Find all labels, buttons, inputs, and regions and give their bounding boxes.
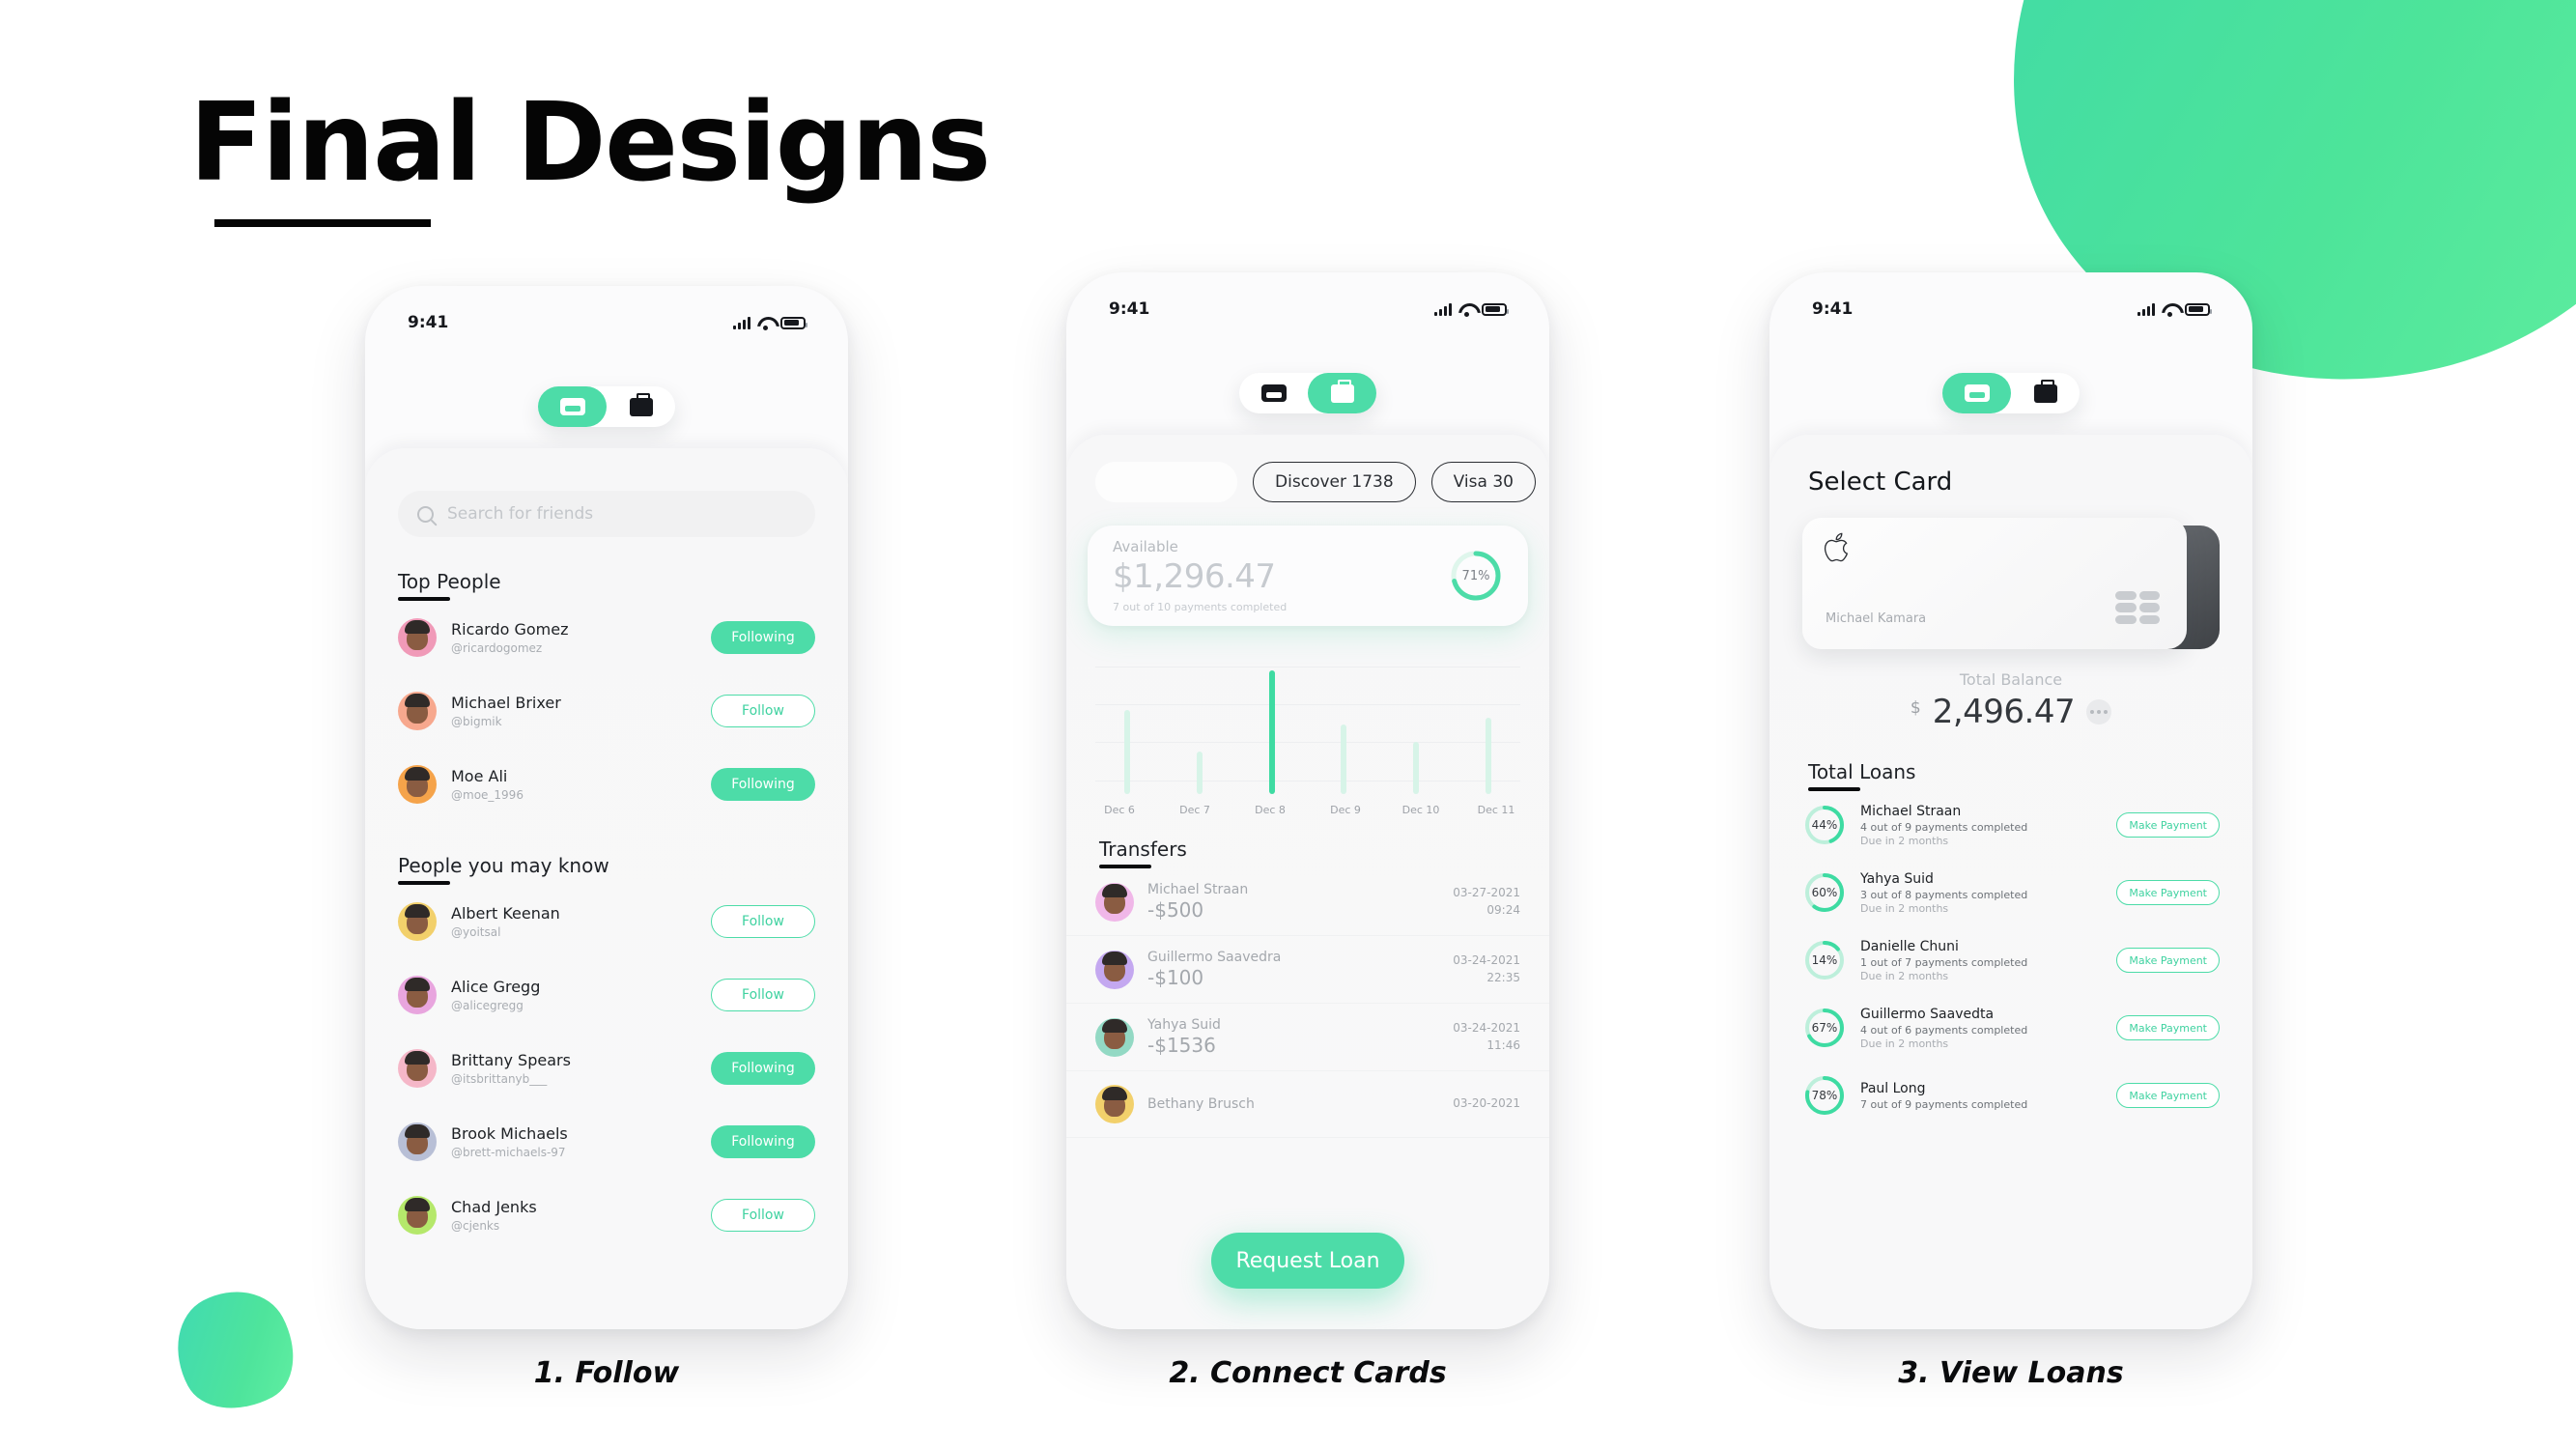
avatar [398, 765, 437, 804]
person-info: Michael Brixer@bigmik [451, 695, 696, 728]
transfer-name: Guillermo Saavedra [1147, 950, 1439, 965]
avatar [1095, 1085, 1134, 1123]
person-info: Albert Keenan@yoitsal [451, 905, 696, 939]
mode-toggle[interactable] [1942, 373, 2080, 413]
person-info: Alice Gregg@alicegregg [451, 979, 696, 1012]
make-payment-button[interactable]: Make Payment [2116, 1015, 2220, 1040]
screen-content-cards: Chase 0926Discover 1738Visa 30 Available… [1066, 435, 1549, 1329]
loan-row[interactable]: 44%Michael Straan4 out of 9 payments com… [1769, 791, 2252, 859]
avatar [398, 976, 437, 1014]
loan-progress-ring: 44% [1802, 803, 1847, 847]
person-info: Brittany Spears@itsbrittanyb___ [451, 1052, 696, 1086]
chart-x-tick: Dec 10 [1397, 804, 1445, 816]
transfers-list: Michael Straan-$50003-27-202109:24Guille… [1066, 868, 1549, 1138]
cellular-signal-icon [1434, 303, 1452, 316]
follow-toggle-button[interactable]: Follow [711, 905, 815, 938]
loan-row[interactable]: 67%Guillermo Saavedta4 out of 6 payments… [1769, 994, 2252, 1062]
transfer-date: 03-24-2021 [1453, 1020, 1520, 1037]
follow-toggle-button[interactable]: Following [711, 1125, 815, 1158]
toggle-option-briefcase[interactable] [607, 386, 675, 427]
make-payment-button[interactable]: Make Payment [2116, 812, 2220, 838]
caption-step-2: 2. Connect Cards [1066, 1356, 1549, 1390]
caption-step-1: 1. Follow [365, 1356, 848, 1390]
avatar [398, 618, 437, 657]
person-name: Albert Keenan [451, 904, 560, 923]
loan-progress-ring: 78% [1802, 1073, 1847, 1118]
chart-x-tick: Dec 7 [1171, 804, 1219, 816]
avatar [398, 1049, 437, 1088]
loan-progress-value: 44% [1802, 803, 1847, 847]
chart-bar-slot [1464, 659, 1513, 794]
select-card-title: Select Card [1808, 468, 2252, 497]
person-handle: @bigmik [451, 715, 696, 728]
loan-info: Guillermo Saavedta4 out of 6 payments co… [1860, 1007, 2103, 1050]
status-indicators [733, 317, 806, 329]
loan-payments-text: 4 out of 6 payments completed [1860, 1024, 2103, 1037]
card-chip[interactable]: Discover 1738 [1253, 462, 1416, 502]
loan-row[interactable]: 78%Paul Long7 out of 9 payments complete… [1769, 1062, 2252, 1129]
chart-bar [1413, 742, 1419, 794]
avatar [1095, 951, 1134, 989]
transfer-time: 22:35 [1453, 970, 1520, 986]
total-loans-heading: Total Loans [1808, 760, 1915, 783]
avatar [1095, 883, 1134, 922]
briefcase-icon [630, 398, 653, 416]
battery-icon [780, 317, 806, 329]
loan-payments-text: 7 out of 9 payments completed [1860, 1098, 2103, 1111]
person-row[interactable]: Alice Gregg@alicegreggFollow [365, 958, 848, 1032]
credit-card-icon [1965, 384, 1990, 402]
person-handle: @ricardogomez [451, 641, 696, 655]
person-name: Alice Gregg [451, 978, 540, 996]
transfer-amount: -$100 [1147, 966, 1439, 989]
toggle-option-card[interactable] [1942, 373, 2011, 413]
person-name: Chad Jenks [451, 1198, 537, 1216]
phone-mockup-view-loans: 9:41 Select Card Michael Kamara [1769, 272, 2252, 1329]
transfers-bar-chart [1095, 659, 1520, 794]
credit-card-icon [1261, 384, 1287, 402]
transfer-datetime: 03-27-202109:24 [1453, 885, 1520, 919]
cellular-signal-icon [2137, 303, 2155, 316]
loan-info: Yahya Suid3 out of 8 payments completedD… [1860, 871, 2103, 915]
transfer-date: 03-27-2021 [1453, 885, 1520, 901]
person-row[interactable]: Albert Keenan@yoitsalFollow [365, 885, 848, 958]
total-balance-row: $ 2,496.47 [1769, 693, 2252, 731]
chart-bar [1124, 710, 1130, 794]
battery-icon [2185, 303, 2210, 316]
transfer-name: Michael Straan [1147, 882, 1439, 897]
chart-bar-slot [1248, 659, 1296, 794]
loan-borrower-name: Danielle Chuni [1860, 939, 2103, 954]
person-info: Brook Michaels@brett-michaels-97 [451, 1125, 696, 1159]
section-heading: People you may know [398, 854, 609, 877]
person-row[interactable]: Chad Jenks@cjenksFollow [365, 1179, 848, 1252]
loan-info: Michael Straan4 out of 9 payments comple… [1860, 804, 2103, 847]
person-name: Moe Ali [451, 767, 507, 785]
status-indicators [2137, 303, 2210, 316]
transfer-info: Guillermo Saavedra-$100 [1147, 950, 1439, 989]
make-payment-button[interactable]: Make Payment [2116, 880, 2220, 905]
phone-mockup-follow: 9:41 Search for friends Top PeopleRicard… [365, 286, 848, 1329]
make-payment-button[interactable]: Make Payment [2116, 1083, 2220, 1108]
person-info: Ricardo Gomez@ricardogomez [451, 621, 696, 655]
person-row[interactable]: Michael Brixer@bigmikFollow [365, 674, 848, 748]
loans-list: 44%Michael Straan4 out of 9 payments com… [1769, 791, 2252, 1129]
avatar [1095, 1018, 1134, 1057]
person-name: Brittany Spears [451, 1051, 571, 1069]
search-placeholder: Search for friends [447, 504, 593, 524]
person-row[interactable]: Ricardo Gomez@ricardogomezFollowing [365, 601, 848, 674]
status-time: 9:41 [1812, 299, 1853, 319]
person-handle: @moe_1996 [451, 788, 696, 802]
transfer-row[interactable]: Michael Straan-$50003-27-202109:24 [1066, 868, 1549, 936]
chart-x-axis-labels: Dec 6Dec 7Dec 8Dec 9Dec 10Dec 11 [1095, 804, 1520, 816]
loan-info: Paul Long7 out of 9 payments completed [1860, 1081, 2103, 1111]
available-amount: $1,296.47 [1113, 557, 1287, 596]
toggle-option-card[interactable] [538, 386, 607, 427]
mode-toggle[interactable] [538, 386, 675, 427]
chart-bar [1341, 724, 1346, 794]
person-name: Ricardo Gomez [451, 620, 569, 639]
transfer-date: 03-20-2021 [1453, 1095, 1520, 1112]
transfer-datetime: 03-20-2021 [1453, 1095, 1520, 1112]
status-time: 9:41 [1109, 299, 1149, 319]
chart-bar-slot [1319, 659, 1368, 794]
people-sections: Top PeopleRicardo Gomez@ricardogomezFoll… [365, 537, 848, 1252]
chart-x-tick: Dec 11 [1472, 804, 1520, 816]
status-bar: 9:41 [365, 286, 848, 342]
status-time: 9:41 [408, 313, 448, 332]
briefcase-icon [1331, 384, 1354, 403]
follow-toggle-button[interactable]: Follow [711, 979, 815, 1011]
person-info: Chad Jenks@cjenks [451, 1199, 696, 1233]
card-chip-row[interactable]: Chase 0926Discover 1738Visa 30 [1066, 460, 1549, 504]
person-handle: @cjenks [451, 1219, 696, 1233]
person-row[interactable]: Brittany Spears@itsbrittanyb___Following [365, 1032, 848, 1105]
request-loan-button[interactable]: Request Loan [1211, 1233, 1404, 1289]
currency-symbol: $ [1911, 698, 1921, 718]
avatar [398, 692, 437, 730]
avatar [398, 1196, 437, 1235]
apple-logo-icon [1824, 531, 1853, 564]
loan-borrower-name: Paul Long [1860, 1081, 2103, 1096]
loan-payments-text: 4 out of 9 payments completed [1860, 821, 2103, 834]
follow-toggle-button[interactable]: Following [711, 621, 815, 654]
total-balance-amount: 2,496.47 [1933, 693, 2075, 731]
loan-due-text: Due in 2 months [1860, 902, 2103, 915]
loan-due-text: Due in 2 months [1860, 835, 2103, 847]
person-row[interactable]: Moe Ali@moe_1996Following [365, 748, 848, 821]
search-input[interactable]: Search for friends [398, 491, 815, 537]
credit-card-icon [560, 398, 585, 415]
follow-toggle-button[interactable]: Follow [711, 695, 815, 727]
transfer-name: Bethany Brusch [1147, 1096, 1439, 1112]
chart-bar-slot [1175, 659, 1224, 794]
person-handle: @itsbrittanyb___ [451, 1072, 696, 1086]
balance-text-block: Available $1,296.47 7 out of 10 payments… [1113, 538, 1287, 613]
person-row[interactable]: Brook Michaels@brett-michaels-97Followin… [365, 1105, 848, 1179]
chart-bar-slot [1103, 659, 1151, 794]
loan-due-text: Due in 2 months [1860, 970, 2103, 982]
follow-toggle-button[interactable]: Following [711, 768, 815, 801]
status-indicators [1434, 303, 1507, 316]
toggle-option-briefcase[interactable] [2011, 373, 2080, 413]
transfers-heading: Transfers [1099, 838, 1187, 861]
section-heading: Top People [398, 570, 501, 593]
chart-bar [1486, 718, 1491, 794]
ellipsis-icon[interactable] [2086, 699, 2111, 724]
loan-row[interactable]: 14%Danielle Chuni1 out of 7 payments com… [1769, 926, 2252, 994]
card-chip-icon [2115, 591, 2160, 624]
screen-content-loans: Select Card Michael Kamara Total Balance… [1769, 435, 2252, 1329]
chart-bar [1269, 670, 1275, 794]
loan-progress-ring: 67% [1802, 1006, 1847, 1050]
decorative-blob-bottom-left [156, 1271, 313, 1430]
toggle-option-briefcase[interactable] [1308, 373, 1376, 413]
status-bar: 9:41 [1769, 272, 2252, 328]
briefcase-icon [2034, 384, 2057, 403]
loan-due-text: Due in 2 months [1860, 1037, 2103, 1050]
card-holder-name: Michael Kamara [1826, 611, 1926, 626]
wifi-icon [2162, 303, 2178, 316]
available-balance-card: Available $1,296.47 7 out of 10 payments… [1088, 526, 1528, 626]
make-payment-button[interactable]: Make Payment [2116, 948, 2220, 973]
person-info: Moe Ali@moe_1996 [451, 768, 696, 802]
total-balance-label: Total Balance [1769, 670, 2252, 689]
transfer-name: Yahya Suid [1147, 1017, 1439, 1033]
available-label: Available [1113, 538, 1287, 555]
loan-progress-value: 78% [1802, 1073, 1847, 1118]
loan-payments-text: 1 out of 7 payments completed [1860, 956, 2103, 969]
phone-mockup-connect-cards: 9:41 Chase 0926Discover 1738Visa 30 Avai… [1066, 272, 1549, 1329]
card-chip[interactable]: Visa 30 [1431, 462, 1536, 502]
transfer-amount: -$1536 [1147, 1034, 1439, 1057]
caption-step-3: 3. View Loans [1769, 1356, 2252, 1390]
progress-ring-value: 71% [1449, 549, 1503, 603]
transfer-info: Yahya Suid-$1536 [1147, 1017, 1439, 1057]
wifi-icon [757, 317, 774, 329]
loan-progress-value: 67% [1802, 1006, 1847, 1050]
transfer-datetime: 03-24-202122:35 [1453, 952, 1520, 986]
chart-x-tick: Dec 6 [1095, 804, 1144, 816]
card-carousel[interactable]: Michael Kamara [1802, 518, 2220, 649]
chart-x-tick: Dec 8 [1246, 804, 1294, 816]
avatar [398, 1122, 437, 1161]
transfer-row[interactable]: Bethany Brusch03-20-2021 [1066, 1071, 1549, 1138]
follow-toggle-button[interactable]: Following [711, 1052, 815, 1085]
battery-icon [1482, 303, 1507, 316]
card-chip[interactable]: Chase 0926 [1095, 462, 1237, 502]
loan-progress-ring: 14% [1802, 938, 1847, 982]
transfer-amount: -$500 [1147, 898, 1439, 922]
chart-bar [1197, 752, 1203, 794]
title-underline [214, 219, 431, 227]
cellular-signal-icon [733, 317, 750, 329]
loan-borrower-name: Yahya Suid [1860, 871, 2103, 887]
wifi-icon [1458, 303, 1475, 316]
person-handle: @alicegregg [451, 999, 696, 1012]
transfer-date: 03-24-2021 [1453, 952, 1520, 969]
loan-info: Danielle Chuni1 out of 7 payments comple… [1860, 939, 2103, 982]
transfer-row[interactable]: Yahya Suid-$153603-24-202111:46 [1066, 1004, 1549, 1071]
person-name: Michael Brixer [451, 694, 561, 712]
loan-progress-ring: 60% [1802, 870, 1847, 915]
search-icon [417, 506, 434, 523]
chart-bar-slot [1392, 659, 1440, 794]
transfer-time: 11:46 [1453, 1037, 1520, 1054]
loan-progress-value: 14% [1802, 938, 1847, 982]
payments-progress-text: 7 out of 10 payments completed [1113, 601, 1287, 613]
mode-toggle[interactable] [1239, 373, 1376, 413]
card-primary[interactable]: Michael Kamara [1802, 518, 2187, 649]
page-title: Final Designs [189, 89, 990, 197]
chart-x-tick: Dec 9 [1321, 804, 1370, 816]
transfer-datetime: 03-24-202111:46 [1453, 1020, 1520, 1054]
toggle-option-card[interactable] [1239, 373, 1308, 413]
follow-toggle-button[interactable]: Follow [711, 1199, 815, 1232]
status-bar: 9:41 [1066, 272, 1549, 328]
transfer-info: Bethany Brusch [1147, 1096, 1439, 1112]
person-name: Brook Michaels [451, 1124, 568, 1143]
loan-row[interactable]: 60%Yahya Suid3 out of 8 payments complet… [1769, 859, 2252, 926]
chart-bars [1095, 659, 1520, 794]
design-showcase-canvas: Final Designs 9:41 Search for friends To… [0, 0, 2576, 1449]
person-handle: @brett-michaels-97 [451, 1146, 696, 1159]
loan-progress-value: 60% [1802, 870, 1847, 915]
progress-ring: 71% [1449, 549, 1503, 603]
person-handle: @yoitsal [451, 925, 696, 939]
loan-borrower-name: Guillermo Saavedta [1860, 1007, 2103, 1022]
loan-payments-text: 3 out of 8 payments completed [1860, 889, 2103, 901]
loan-borrower-name: Michael Straan [1860, 804, 2103, 819]
transfer-row[interactable]: Guillermo Saavedra-$10003-24-202122:35 [1066, 936, 1549, 1004]
avatar [398, 902, 437, 941]
screen-content-follow: Search for friends Top PeopleRicardo Gom… [365, 448, 848, 1329]
transfer-time: 09:24 [1453, 902, 1520, 919]
page-title-block: Final Designs [189, 89, 990, 197]
transfer-info: Michael Straan-$500 [1147, 882, 1439, 922]
